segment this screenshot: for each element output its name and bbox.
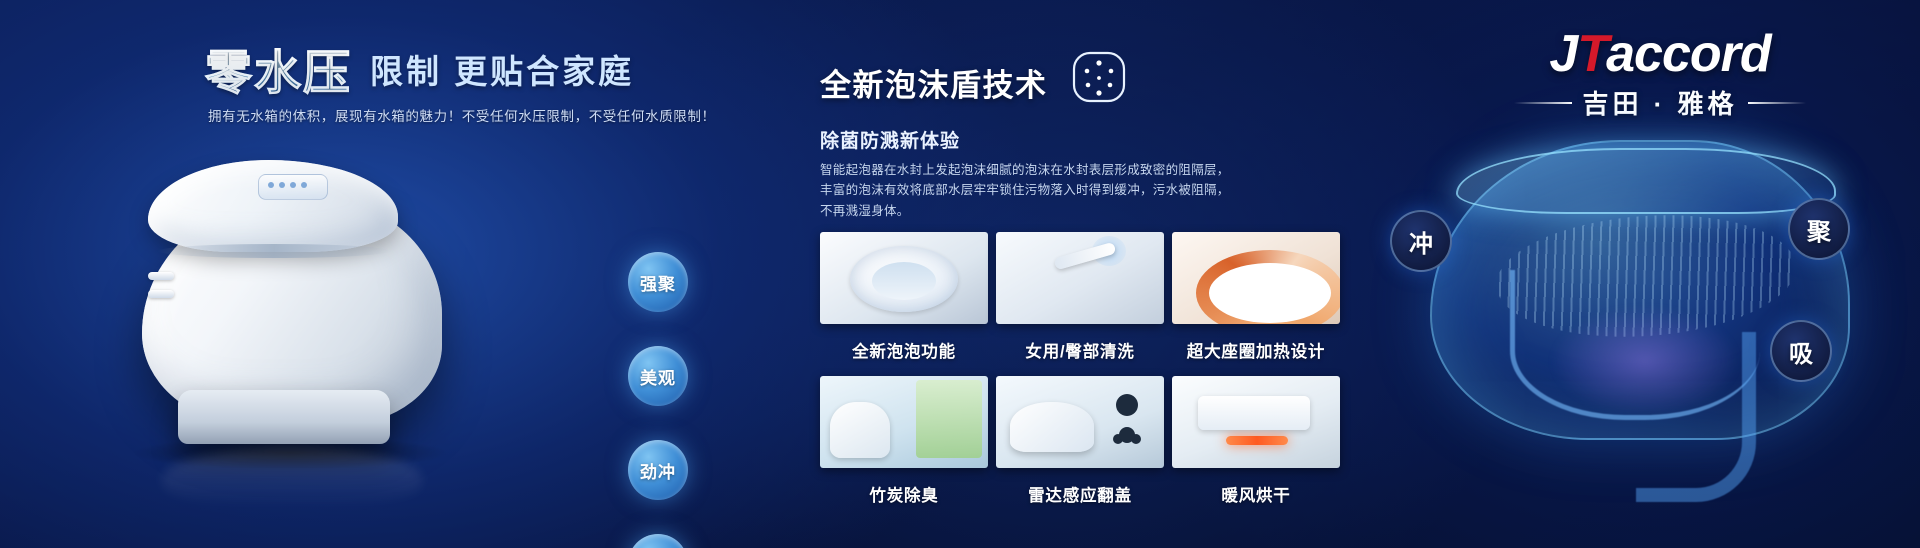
- feature-caption: 雷达感应翻盖: [996, 482, 1164, 506]
- headline-main-text: 零水压: [205, 34, 362, 103]
- middle-paragraph: 智能起泡器在水封上发起泡沫细腻的泡沫在水封表层形成致密的阻隔层，丰富的泡沫有效将…: [820, 160, 1240, 221]
- feature-card-grid: 全新泡泡功能 女用/臀部清洗 超大座圈加热设计 竹炭除臭 雷达感应翻盖 暖风烘干: [820, 232, 1350, 520]
- xray-drain-pipe: [1636, 332, 1756, 502]
- bamboo-charcoal-photo: [820, 376, 988, 468]
- logo-accord-text: accord: [1606, 25, 1771, 83]
- middle-section: 全新泡沫盾技术 除菌防溅新体验 智能起泡器在水封上发起泡沫细腻的泡沫在水封表层形…: [820, 0, 1380, 548]
- badge-label: 冲: [1409, 224, 1433, 259]
- logo-letter-t: T: [1577, 25, 1606, 83]
- middle-subtitle: 除菌防溅新体验: [820, 126, 960, 153]
- left-badge-list: 强聚 美观 劲冲 瞬吸: [628, 252, 704, 548]
- badge-qiangju[interactable]: 强聚: [628, 252, 688, 312]
- brand-logo[interactable]: JTaccord 吉田 · 雅格: [1490, 28, 1830, 121]
- badge-label: 强聚: [640, 270, 676, 295]
- logo-rule-left: [1514, 102, 1572, 104]
- feature-caption: 竹炭除臭: [820, 482, 988, 506]
- feature-card[interactable]: [996, 232, 1164, 324]
- badge-shunxi[interactable]: 瞬吸: [628, 534, 688, 548]
- heated-seat-ring-photo: [1172, 232, 1340, 324]
- badge-label: 吸: [1789, 334, 1813, 369]
- logo-rule-right: [1748, 102, 1806, 104]
- logo-chinese-name: 吉田 · 雅格: [1582, 84, 1737, 121]
- toilet-reflection: [162, 448, 422, 508]
- badge-jingchong[interactable]: 劲冲: [628, 440, 688, 500]
- side-button-icon: [148, 290, 174, 298]
- logo-chinese-row: 吉田 · 雅格: [1490, 84, 1830, 121]
- feature-card[interactable]: [820, 232, 988, 324]
- badge-meiguan[interactable]: 美观: [628, 346, 688, 406]
- feature-card[interactable]: [1172, 376, 1340, 468]
- headline-rest-text: 限制 更贴合家庭: [370, 45, 634, 93]
- left-section: 零水压限制 更贴合家庭 拥有无水箱的体积，展现有水箱的魅力！不受任何水压限制，不…: [0, 0, 640, 548]
- side-button-icon: [148, 272, 174, 280]
- logo-letter-j: J: [1549, 25, 1577, 83]
- radar-sensor-lid-photo: [996, 376, 1164, 468]
- left-subtitle: 拥有无水箱的体积，展现有水箱的魅力！不受任何水压限制，不受任何水质限制！: [208, 105, 716, 125]
- left-headline: 零水压限制 更贴合家庭: [205, 34, 634, 103]
- feature-caption: 暖风烘干: [1172, 482, 1340, 506]
- spray-wand-photo: [996, 232, 1164, 324]
- toilet-bowl-foam-photo: [820, 232, 988, 324]
- toilet-seam: [158, 244, 390, 258]
- foam-shield-icon: [1070, 50, 1128, 104]
- badge-label: 聚: [1807, 212, 1831, 247]
- warm-air-dryer-photo: [1172, 376, 1340, 468]
- feature-card[interactable]: [820, 376, 988, 468]
- badge-label: 劲冲: [640, 458, 676, 483]
- toilet-xray-cutaway-graphic: 冲 聚 吸: [1400, 120, 1900, 520]
- feature-card[interactable]: [1172, 232, 1340, 324]
- feature-caption-row-1: 全新泡泡功能 女用/臀部清洗 超大座圈加热设计: [820, 330, 1350, 362]
- feature-caption: 女用/臀部清洗: [996, 338, 1164, 362]
- toilet-base: [178, 390, 390, 444]
- feature-card-row-2: [820, 376, 1350, 468]
- feature-caption-row-2: 竹炭除臭 雷达感应翻盖 暖风烘干: [820, 474, 1350, 506]
- feature-caption: 全新泡泡功能: [820, 338, 988, 362]
- control-panel-dots-icon: [268, 182, 318, 190]
- feature-caption: 超大座圈加热设计: [1172, 338, 1340, 362]
- flush-badge-icon[interactable]: 冲: [1390, 210, 1452, 272]
- feature-card-row-1: [820, 232, 1350, 324]
- feature-card[interactable]: [996, 376, 1164, 468]
- gather-badge-icon[interactable]: 聚: [1788, 198, 1850, 260]
- product-banner: 零水压限制 更贴合家庭 拥有无水箱的体积，展现有水箱的魅力！不受任何水压限制，不…: [0, 0, 1920, 548]
- xray-lid: [1456, 148, 1836, 214]
- smart-toilet-photo: [112, 140, 512, 470]
- middle-title: 全新泡沫盾技术: [820, 60, 1048, 105]
- suction-badge-icon[interactable]: 吸: [1770, 320, 1832, 382]
- badge-label: 美观: [640, 364, 676, 389]
- logo-wordmark: JTaccord: [1490, 28, 1830, 80]
- right-section: JTaccord 吉田 · 雅格 冲 聚 吸: [1380, 0, 1920, 548]
